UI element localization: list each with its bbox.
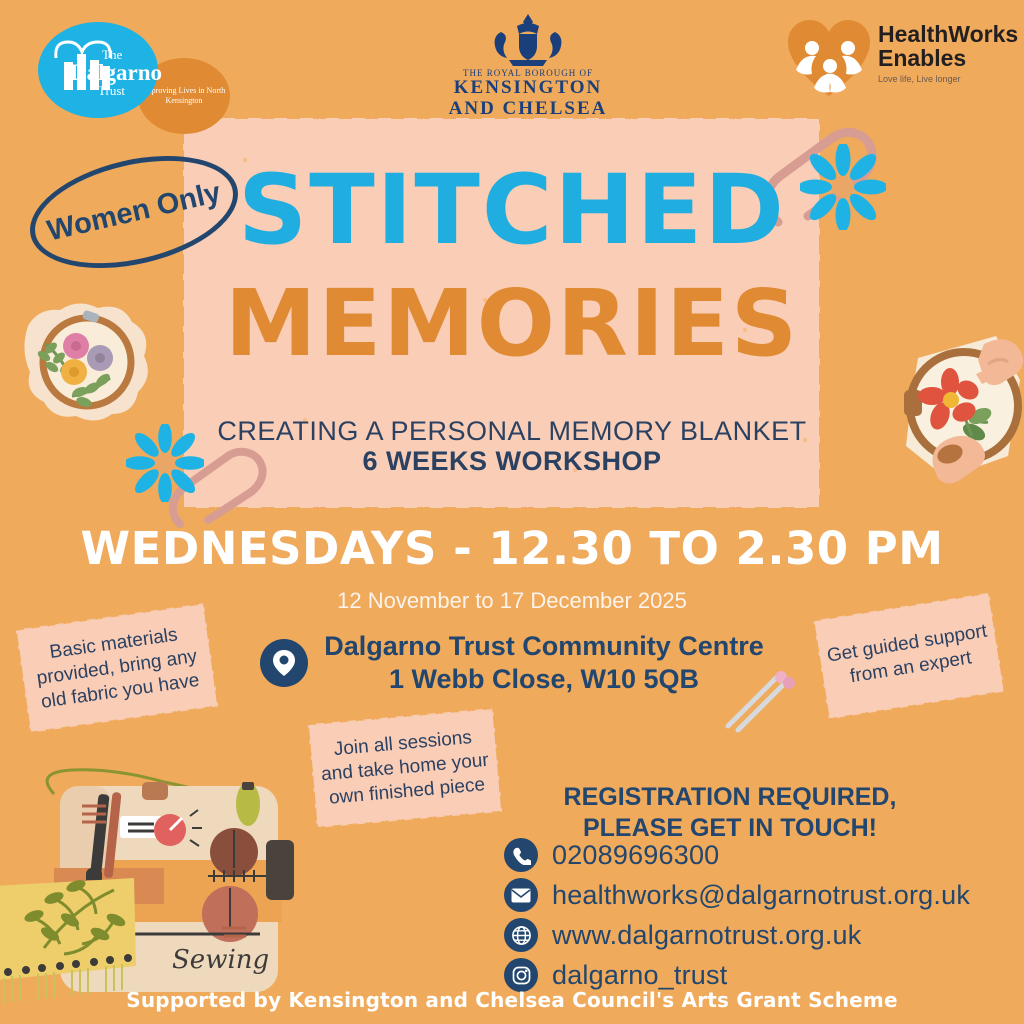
- subtitle-primary: CREATING A PERSONAL MEMORY BLANKET: [0, 418, 1024, 445]
- note-sessions-text: Join all sessions and take home your own…: [317, 724, 493, 811]
- dalgarno-name: Dalgarno: [70, 61, 162, 84]
- venue-text: Dalgarno Trust Community Centre 1 Webb C…: [324, 630, 764, 696]
- note-expert: Get guided support from an expert: [813, 593, 1004, 720]
- dalgarno-wordmark: The Dalgarno Trust: [70, 48, 162, 98]
- registration-heading-line1: REGISTRATION REQUIRED,: [500, 782, 960, 813]
- logo-dalgarno-trust: Improving Lives in North Kensington The …: [30, 14, 230, 124]
- note-materials: Basic materials provided, bring any old …: [16, 603, 219, 732]
- venue-address: 1 Webb Close, W10 5QB: [324, 663, 764, 696]
- panel-edge-bottom: [183, 507, 820, 521]
- instagram-icon: [504, 958, 538, 992]
- poster-canvas: Sewing: [0, 0, 1024, 1024]
- svg-text:Sewing: Sewing: [172, 945, 269, 975]
- venue-name: Dalgarno Trust Community Centre: [324, 630, 764, 663]
- sewing-machine-illustration: Sewing: [0, 768, 304, 1024]
- healthworks-tagline: Love life, Live longer: [878, 74, 1018, 84]
- rbkc-line2: KENSINGTON: [438, 78, 618, 99]
- contact-row-phone[interactable]: 02089696300: [504, 838, 970, 872]
- title-stitched: STITCHED: [0, 162, 1024, 258]
- rbkc-line3: AND CHELSEA: [438, 99, 618, 120]
- note-materials-text: Basic materials provided, bring any old …: [26, 620, 208, 716]
- envelope-icon: [504, 878, 538, 912]
- rbkc-crest-icon: [473, 12, 583, 68]
- phone-icon: [504, 838, 538, 872]
- footer-credit: Supported by Kensington and Chelsea Coun…: [0, 988, 1024, 1012]
- note-expert-text: Get guided support from an expert: [825, 619, 993, 692]
- contact-instagram: dalgarno_trust: [552, 960, 727, 991]
- contact-row-instagram[interactable]: dalgarno_trust: [504, 958, 970, 992]
- schedule-when: WEDNESDAYS - 12.30 TO 2.30 PM: [0, 522, 1024, 575]
- contact-phone: 02089696300: [552, 840, 719, 871]
- contact-email: healthworks@dalgarnotrust.org.uk: [552, 880, 970, 911]
- contact-row-website[interactable]: www.dalgarnotrust.org.uk: [504, 918, 970, 952]
- note-sessions: Join all sessions and take home your own…: [308, 708, 502, 828]
- registration-heading: REGISTRATION REQUIRED, PLEASE GET IN TOU…: [500, 782, 960, 843]
- subtitle-secondary: 6 WEEKS WORKSHOP: [0, 448, 1024, 475]
- heart-people-icon: [786, 18, 872, 98]
- contact-list: 02089696300 healthworks@dalgarnotrust.or…: [504, 838, 970, 992]
- location-pin-icon: [260, 639, 308, 687]
- globe-icon: [504, 918, 538, 952]
- healthworks-line1: HealthWorks: [878, 22, 1018, 46]
- logo-kensington-chelsea: THE ROYAL BOROUGH OF KENSINGTON AND CHEL…: [438, 12, 618, 120]
- contact-row-email[interactable]: healthworks@dalgarnotrust.org.uk: [504, 878, 970, 912]
- contact-website: www.dalgarnotrust.org.uk: [552, 920, 861, 951]
- logo-healthworks: HealthWorks Enables Love life, Live long…: [786, 18, 1016, 110]
- dalgarno-trust-word: Trust: [98, 84, 162, 98]
- healthworks-wordmark: HealthWorks Enables Love life, Live long…: [878, 22, 1018, 84]
- healthworks-line2: Enables: [878, 46, 1018, 70]
- title-memories: MEMORIES: [0, 278, 1024, 370]
